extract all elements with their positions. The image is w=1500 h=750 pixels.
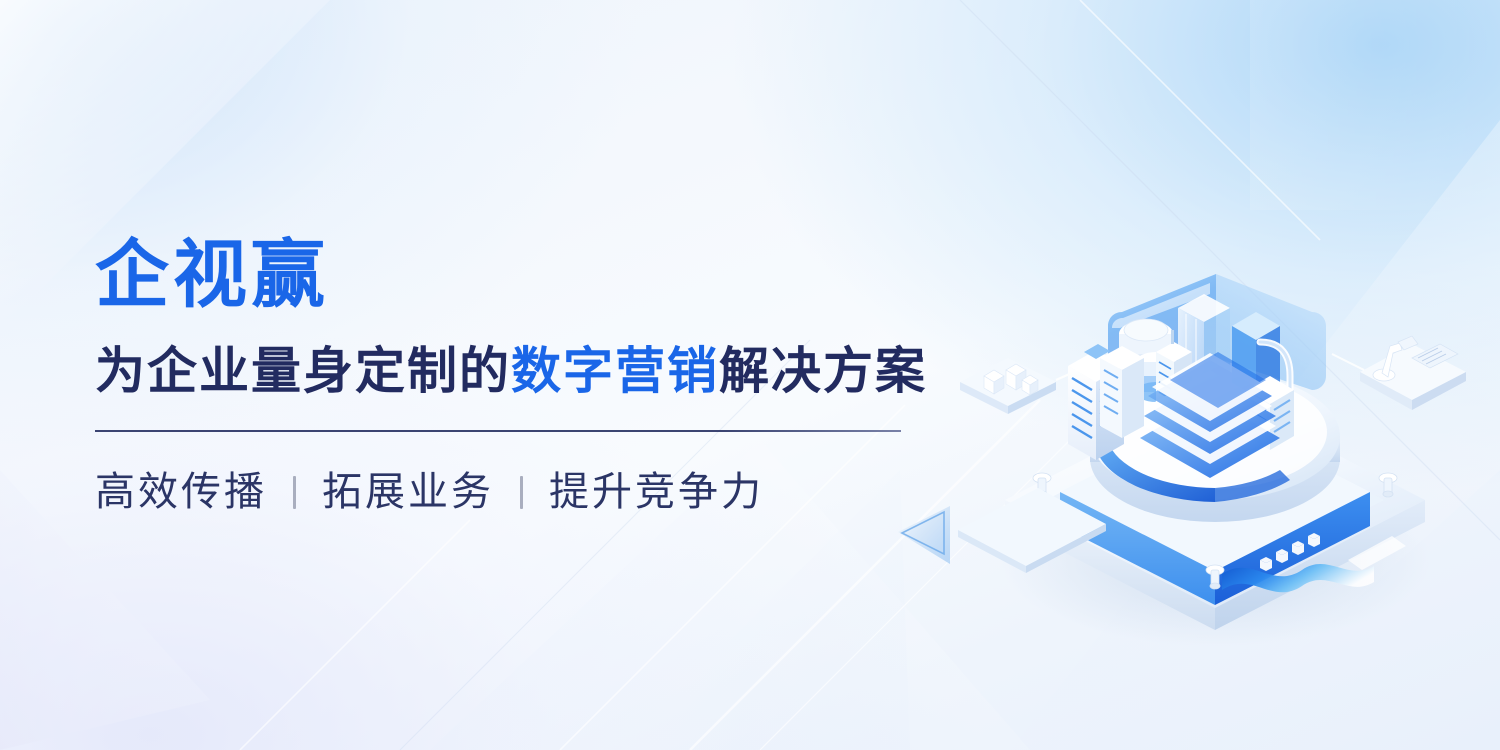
glass-tower-tall: [1178, 294, 1230, 412]
bg-shard-right: [1010, 120, 1500, 750]
small-buildings-tile-left: [960, 358, 1092, 414]
tagline-item-2: 拓展业务: [322, 468, 494, 516]
blue-arc-ring: [1096, 446, 1215, 502]
peg-right: [1379, 473, 1397, 497]
led-indicator-dots: [1260, 533, 1320, 571]
headline-suffix: 解决方案: [719, 343, 927, 399]
mid-tower: [1100, 346, 1144, 438]
hero-copy: 企视赢 为企业量身定制的数字营销解决方案 高效传播 拓展业务 提升竞争力: [95, 236, 925, 516]
striped-tower-right: [1246, 376, 1294, 450]
bg-stripe-texture: [1250, 0, 1500, 210]
blue-glass-block: [1232, 312, 1280, 404]
headline-prefix: 为企业量身定制的: [95, 343, 511, 399]
tagline-item-1: 高效传播: [95, 468, 267, 516]
blue-pool-surface: [1170, 352, 1266, 408]
peg-front: [1206, 565, 1224, 589]
city-buildings-cluster: [1068, 294, 1294, 478]
tagline: 高效传播 拓展业务 提升竞争力: [95, 468, 925, 516]
striped-tower-left: [1068, 344, 1124, 460]
headline-accent: 数字营销: [511, 343, 719, 399]
cylinder-building-blue: [1136, 352, 1176, 402]
cylinder-building: [1119, 319, 1173, 382]
curved-pipe: [1260, 342, 1290, 400]
tagline-separator-1: [293, 476, 296, 509]
ground-shadow: [1000, 474, 1430, 646]
tagline-item-3: 提升竞争力: [549, 468, 764, 516]
marketing-banner: 企视赢 为企业量身定制的数字营销解决方案 高效传播 拓展业务 提升竞争力: [0, 0, 1500, 750]
tagline-separator-2: [520, 476, 523, 509]
blue-ribbon-wave: [1222, 536, 1406, 592]
divider-rule: [95, 430, 901, 432]
illustration-digital-city: [960, 230, 1480, 650]
robot-arm-tile-right: [1332, 336, 1466, 410]
robot-arm-icon: [1373, 336, 1418, 381]
blue-band-block: [1060, 413, 1370, 605]
slim-tower-center: [1156, 330, 1192, 418]
brand-title: 企视赢: [95, 236, 925, 314]
robot-panel: [1412, 344, 1458, 368]
layered-disc-stack: [1140, 353, 1280, 478]
headline: 为企业量身定制的数字营销解决方案: [95, 342, 925, 401]
glass-backdrop-panel: [1108, 274, 1326, 390]
corner-pegs: [1033, 473, 1397, 589]
flat-tile-front-left: [958, 488, 1106, 573]
circular-podium: [1090, 372, 1340, 522]
peg-left: [1033, 473, 1051, 497]
square-base-platform: [1005, 392, 1425, 630]
